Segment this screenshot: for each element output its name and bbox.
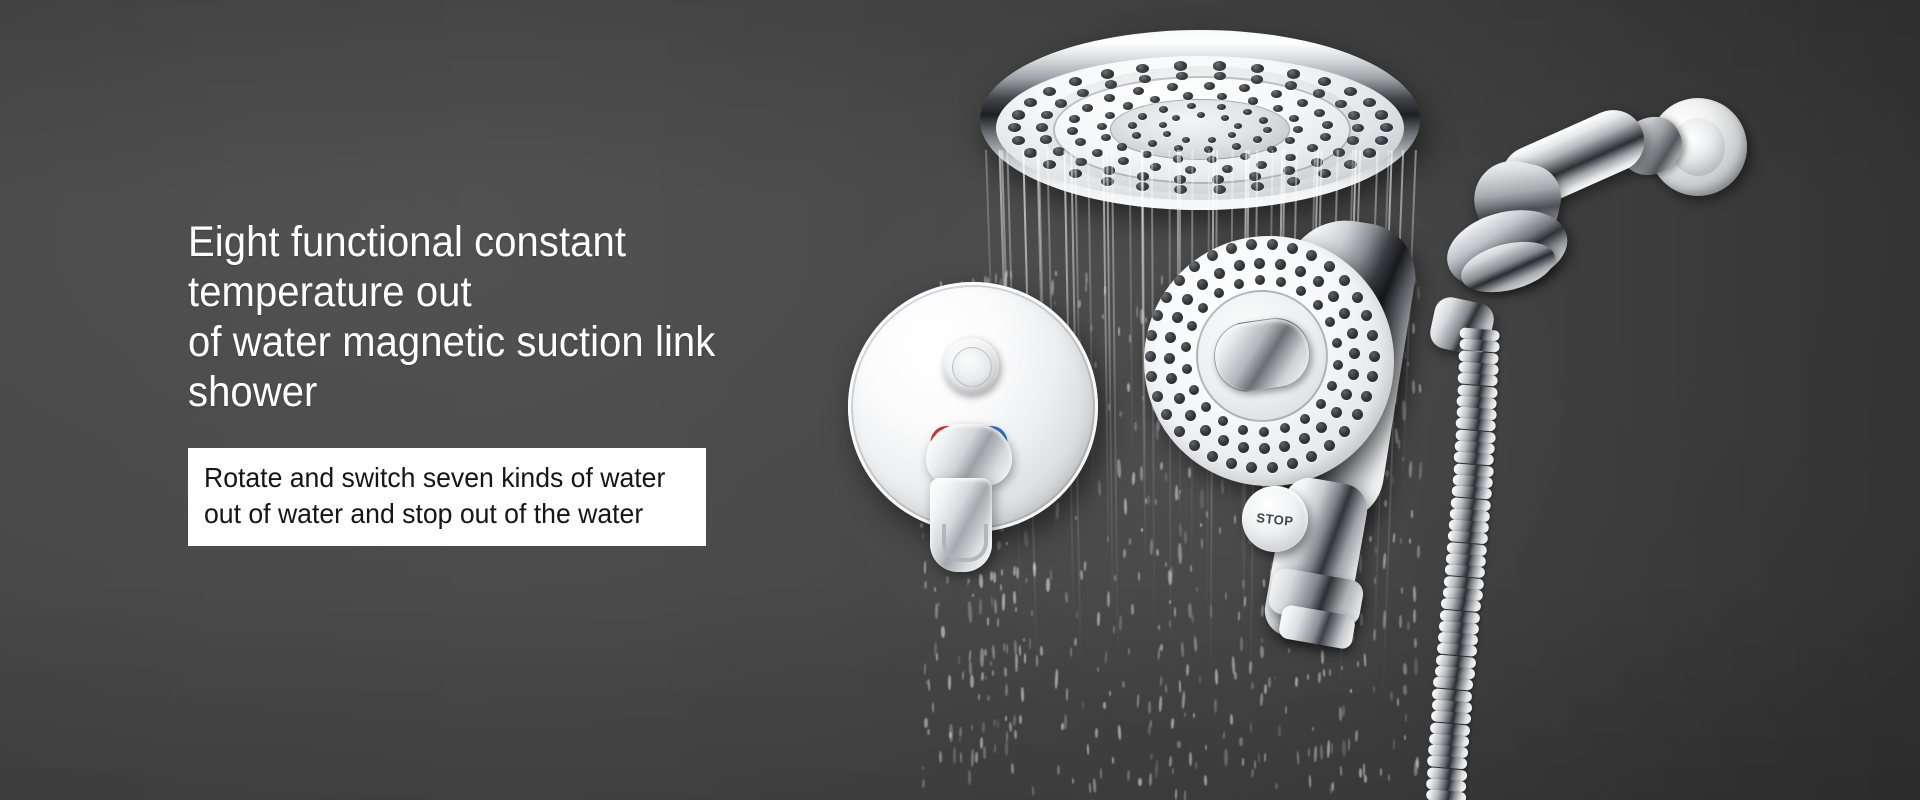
water-droplet — [1387, 774, 1390, 781]
water-droplet — [927, 729, 930, 735]
water-droplet — [1057, 765, 1060, 775]
water-droplet — [1332, 782, 1334, 791]
water-droplet — [1264, 684, 1268, 694]
nozzle — [1251, 64, 1264, 73]
nozzle — [1128, 122, 1137, 128]
water-droplet — [941, 626, 945, 638]
nozzle — [1213, 61, 1226, 70]
water-droplet — [1150, 753, 1153, 760]
nozzle — [1320, 133, 1331, 141]
water-droplet — [1014, 640, 1018, 656]
water-droplet — [1118, 327, 1120, 336]
water-droplet — [1184, 790, 1187, 800]
water-droplet — [981, 672, 984, 681]
water-droplet — [933, 642, 936, 656]
nozzle — [1253, 136, 1262, 142]
water-droplet — [1122, 549, 1126, 558]
nozzle — [1285, 154, 1296, 162]
water-droplet — [1285, 706, 1287, 714]
nozzle — [1318, 169, 1331, 178]
nozzle — [1316, 422, 1327, 433]
nozzle — [1075, 158, 1087, 167]
nozzle — [1150, 163, 1161, 171]
water-droplet — [1087, 744, 1090, 755]
nozzle — [1217, 93, 1227, 100]
water-droplet — [923, 581, 926, 589]
water-droplet — [1278, 725, 1281, 737]
water-droplet — [1199, 676, 1201, 683]
temperature-knob[interactable] — [926, 424, 1012, 486]
water-droplet — [1033, 562, 1037, 577]
nozzle — [1222, 165, 1233, 173]
nozzle — [1043, 87, 1056, 96]
nozzle — [1313, 89, 1325, 98]
nozzle — [1325, 317, 1335, 327]
water-droplet — [922, 779, 925, 788]
water-droplet — [1380, 768, 1382, 776]
nozzle — [1347, 136, 1359, 145]
water-droplet — [1234, 672, 1237, 680]
water-droplet — [1131, 604, 1134, 615]
water-droplet — [1313, 746, 1316, 762]
nozzle — [1197, 112, 1205, 118]
water-droplet — [1329, 669, 1332, 676]
water-droplet — [1015, 654, 1018, 667]
hand-shower-face — [1144, 236, 1394, 486]
nozzle — [1228, 132, 1236, 138]
water-droplet — [1109, 691, 1111, 696]
water-droplet — [924, 561, 926, 574]
nozzle — [1299, 433, 1310, 444]
nozzle — [1361, 391, 1372, 402]
water-droplet — [1127, 770, 1130, 782]
nozzle — [1145, 351, 1156, 362]
water-droplet — [1309, 775, 1312, 788]
nozzle — [1246, 462, 1257, 473]
nozzle — [1271, 90, 1282, 98]
nozzle — [1161, 409, 1172, 420]
water-droplet — [987, 617, 989, 626]
nozzle — [1369, 351, 1380, 362]
water-droplet — [1013, 715, 1016, 726]
water-droplet — [1021, 687, 1024, 702]
water-droplet — [1373, 686, 1375, 692]
nozzle — [1118, 157, 1129, 165]
water-droplet — [1339, 707, 1342, 721]
water-droplet — [996, 720, 999, 729]
water-droplet — [1189, 752, 1192, 766]
nozzle — [1327, 381, 1337, 391]
nozzle — [1150, 96, 1160, 103]
nozzle — [1283, 166, 1295, 175]
water-droplet — [993, 719, 996, 727]
water-droplet — [1177, 740, 1181, 747]
nozzle — [1174, 275, 1185, 286]
water-droplet — [1323, 669, 1326, 677]
hand-shower-mode-selector[interactable] — [1210, 314, 1315, 397]
water-droplet — [1003, 642, 1005, 651]
nozzle — [1313, 276, 1324, 287]
nozzle — [1352, 409, 1363, 420]
water-droplet — [996, 618, 999, 627]
water-droplet — [1025, 578, 1028, 584]
nozzle — [1328, 291, 1339, 302]
water-droplet — [1080, 570, 1084, 580]
page-title: Eight functional constant temperature ou… — [188, 218, 839, 418]
water-droplet — [1357, 661, 1359, 667]
water-droplet — [1174, 789, 1177, 800]
water-droplet — [1046, 578, 1050, 592]
water-droplet — [1019, 645, 1021, 656]
water-droplet — [1159, 676, 1162, 686]
water-droplet — [1359, 768, 1362, 778]
nozzle — [1243, 109, 1252, 115]
water-droplet — [967, 577, 969, 586]
water-droplet — [1014, 729, 1017, 738]
water-droplet — [1055, 271, 1057, 276]
water-droplet — [1311, 727, 1313, 731]
water-droplet — [1116, 459, 1121, 478]
nozzle — [1296, 286, 1306, 296]
nozzle — [1036, 123, 1048, 132]
water-droplet — [999, 584, 1001, 591]
nozzle — [1259, 427, 1269, 437]
water-droplet — [1239, 737, 1243, 746]
nozzle — [1295, 266, 1306, 277]
nozzle — [1012, 136, 1025, 145]
nozzle — [1349, 348, 1360, 359]
nozzle — [1287, 177, 1300, 186]
nozzle — [1363, 148, 1376, 157]
water-droplet — [1404, 735, 1406, 740]
nozzle — [1333, 148, 1345, 157]
water-droplet — [993, 572, 996, 583]
water-droplet — [1154, 760, 1158, 778]
water-droplet — [1083, 561, 1086, 571]
nozzle — [1276, 277, 1286, 287]
water-droplet — [992, 670, 994, 676]
water-droplet — [1205, 745, 1207, 750]
water-droplet — [1274, 676, 1276, 679]
product-banner: Eight functional constant temperature ou… — [0, 0, 1920, 800]
nozzle — [1348, 111, 1360, 120]
nozzle — [1348, 369, 1359, 380]
water-droplet — [971, 724, 973, 731]
nozzle — [1012, 110, 1025, 119]
water-droplet — [1158, 696, 1162, 712]
water-droplet — [1342, 705, 1346, 717]
nozzle — [1363, 98, 1376, 107]
water-droplet — [936, 653, 938, 661]
water-droplet — [1001, 569, 1003, 576]
water-droplet — [994, 744, 996, 753]
water-droplet — [1250, 722, 1253, 733]
nozzle — [1024, 148, 1037, 157]
water-droplet — [1065, 592, 1068, 603]
nozzle — [1263, 127, 1272, 133]
nozzle — [1256, 161, 1267, 169]
water-droplet — [1032, 786, 1034, 796]
nozzle — [1208, 137, 1216, 143]
nozzle — [1226, 458, 1237, 469]
hand-shower-selector-ring — [1196, 290, 1328, 422]
water-droplet — [926, 680, 928, 685]
water-droplet — [1015, 607, 1017, 612]
water-droplet — [1138, 572, 1140, 581]
nozzle — [1249, 172, 1261, 181]
nozzle — [1318, 77, 1331, 86]
nozzle — [1067, 127, 1078, 135]
nozzle — [1136, 64, 1149, 73]
nozzle — [1069, 77, 1082, 86]
water-droplet — [1413, 760, 1417, 776]
valve-diverter-button[interactable] — [943, 338, 999, 394]
water-droplet — [953, 747, 956, 765]
water-droplet — [1242, 758, 1244, 766]
water-droplet — [1364, 775, 1367, 783]
water-droplet — [1003, 667, 1007, 677]
nozzle — [1146, 330, 1157, 341]
nozzle — [1117, 143, 1127, 150]
concealed-thermostatic-valve-plate — [848, 282, 1098, 532]
water-droplet — [1074, 638, 1077, 646]
water-droplet — [1297, 751, 1300, 765]
nozzle — [1238, 442, 1249, 453]
nozzle — [1008, 123, 1021, 132]
water-droplet — [1005, 731, 1007, 742]
nozzle — [1182, 294, 1193, 305]
nozzle — [1207, 156, 1217, 163]
nozzle — [1234, 260, 1245, 271]
water-droplet — [1112, 757, 1114, 764]
water-droplet — [1308, 748, 1310, 757]
nozzle — [1055, 99, 1067, 108]
water-droplet — [1254, 760, 1256, 769]
water-droplet — [1098, 480, 1102, 496]
water-droplet — [1178, 680, 1181, 693]
water-droplet — [1072, 778, 1075, 784]
water-droplet — [978, 574, 982, 588]
water-droplet — [1002, 593, 1006, 611]
nozzle — [1333, 360, 1343, 370]
water-droplet — [1119, 411, 1122, 417]
water-droplet — [962, 671, 965, 680]
water-droplet — [1004, 716, 1006, 721]
nozzle — [1375, 110, 1388, 119]
nozzle — [1287, 243, 1298, 254]
nozzle — [1172, 312, 1183, 323]
water-droplet — [1307, 674, 1309, 680]
nozzle — [1380, 123, 1393, 132]
water-droplet — [1140, 466, 1143, 481]
water-droplet — [994, 599, 998, 614]
water-droplet — [946, 576, 950, 584]
nozzle — [1101, 69, 1114, 78]
water-droplet — [1389, 691, 1392, 701]
nozzle — [1082, 104, 1093, 112]
water-droplet — [1264, 753, 1267, 762]
nozzle — [1176, 72, 1188, 81]
water-droplet — [1055, 669, 1059, 689]
nozzle — [1316, 399, 1326, 409]
water-droplet — [1100, 768, 1103, 779]
nozzle — [1267, 146, 1277, 153]
water-droplet — [1329, 783, 1333, 795]
water-droplet — [983, 649, 987, 656]
nozzle — [1214, 268, 1225, 279]
nozzle — [1137, 172, 1149, 181]
water-droplet — [1097, 667, 1099, 672]
valve-lever-handle[interactable] — [930, 478, 992, 572]
water-droplet — [1157, 647, 1160, 660]
nozzle — [1367, 330, 1378, 341]
nozzle — [1105, 80, 1117, 89]
water-droplet — [1148, 701, 1151, 713]
nozzle — [1187, 103, 1196, 109]
rain-shower-head — [980, 30, 1420, 210]
nozzle — [1213, 185, 1226, 194]
nozzle — [1344, 87, 1357, 96]
water-droplet — [978, 694, 981, 700]
nozzle — [1189, 385, 1199, 395]
water-droplet — [924, 718, 928, 728]
water-droplet — [1104, 651, 1107, 664]
nozzle — [1287, 69, 1300, 78]
stop-button-label: STOP — [1256, 510, 1295, 529]
nozzle — [1201, 402, 1211, 412]
nozzle — [1259, 117, 1268, 123]
nozzle — [1197, 279, 1208, 290]
nozzle — [1077, 89, 1089, 98]
nozzle — [1139, 75, 1151, 84]
water-jet — [1103, 150, 1110, 566]
water-droplet — [938, 602, 940, 607]
water-jet — [1106, 150, 1114, 619]
nozzle — [1152, 310, 1163, 321]
water-droplet — [972, 594, 974, 597]
nozzle — [1103, 166, 1115, 175]
nozzle — [1287, 458, 1298, 469]
nozzle — [1214, 288, 1224, 298]
water-droplet — [928, 679, 931, 691]
water-droplet — [1138, 778, 1142, 786]
water-droplet — [1354, 730, 1358, 742]
nozzle — [1324, 440, 1335, 451]
water-droplet — [1118, 725, 1122, 740]
nozzle — [1174, 145, 1183, 151]
nozzle — [1159, 106, 1168, 112]
nozzle — [1041, 111, 1053, 120]
nozzle — [1146, 371, 1157, 382]
nozzle — [1352, 292, 1363, 303]
water-droplet — [1005, 741, 1008, 756]
water-droplet — [1184, 712, 1186, 717]
nozzle — [1167, 83, 1178, 91]
water-droplet — [1340, 766, 1343, 776]
water-droplet — [980, 737, 983, 749]
water-droplet — [1006, 541, 1008, 545]
water-droplet — [1403, 685, 1407, 695]
water-droplet — [1348, 738, 1351, 751]
water-droplet — [958, 655, 960, 665]
water-droplet — [980, 648, 984, 667]
nozzle — [1234, 123, 1242, 129]
nozzle — [1352, 124, 1364, 133]
water-droplet — [1397, 698, 1399, 706]
water-droplet — [1194, 762, 1197, 769]
nozzle — [1075, 138, 1086, 146]
nozzle — [1307, 144, 1318, 152]
water-droplet — [1113, 625, 1115, 634]
water-droplet — [1149, 773, 1153, 786]
nozzle — [1187, 321, 1197, 331]
nozzle — [1024, 98, 1037, 107]
nozzle — [1104, 94, 1115, 102]
banner-text-block: Eight functional constant temperature ou… — [188, 218, 888, 546]
nozzle — [1101, 177, 1114, 186]
nozzle — [1251, 75, 1263, 84]
water-droplet — [1342, 740, 1346, 757]
water-droplet — [1260, 693, 1263, 706]
water-droplet — [1070, 647, 1073, 657]
water-droplet — [1040, 646, 1043, 657]
water-droplet — [968, 579, 970, 583]
nozzle — [1040, 135, 1052, 144]
nozzle — [1217, 104, 1226, 110]
nozzle — [1207, 250, 1218, 261]
nozzle — [1285, 81, 1297, 90]
nozzle — [1322, 121, 1333, 129]
water-droplet — [967, 601, 972, 623]
nozzle — [1239, 84, 1250, 92]
nozzle — [1306, 250, 1317, 261]
nozzle — [1341, 389, 1352, 400]
nozzle — [1166, 373, 1177, 384]
water-droplet — [1350, 689, 1352, 693]
water-droplet — [1024, 653, 1026, 664]
nozzle — [1173, 155, 1183, 162]
water-droplet — [1005, 684, 1008, 696]
nozzle — [1174, 185, 1187, 194]
nozzle — [1185, 166, 1196, 174]
water-droplet — [931, 702, 934, 713]
nozzle — [1174, 426, 1185, 437]
water-droplet — [1148, 724, 1151, 735]
nozzle — [1226, 243, 1237, 254]
water-droplet — [1230, 714, 1234, 725]
water-droplet — [1295, 677, 1298, 687]
water-droplet — [1126, 383, 1129, 392]
water-droplet — [1319, 745, 1323, 760]
nozzle — [1152, 391, 1163, 402]
water-droplet — [990, 571, 993, 581]
water-droplet — [1268, 677, 1271, 688]
nozzle — [1300, 414, 1310, 424]
water-droplet — [1193, 713, 1195, 718]
nozzle — [1246, 239, 1257, 250]
water-droplet — [1103, 702, 1106, 709]
water-droplet — [1066, 688, 1069, 701]
nozzle — [1218, 435, 1229, 446]
nozzle — [1240, 153, 1250, 160]
water-droplet — [1024, 531, 1029, 547]
hand-shower-nozzle-array — [1144, 236, 1394, 486]
nozzle — [1275, 259, 1286, 270]
nozzle — [1339, 426, 1350, 437]
nozzle — [1069, 115, 1080, 123]
water-droplet — [985, 676, 987, 681]
nozzle — [1204, 82, 1215, 90]
